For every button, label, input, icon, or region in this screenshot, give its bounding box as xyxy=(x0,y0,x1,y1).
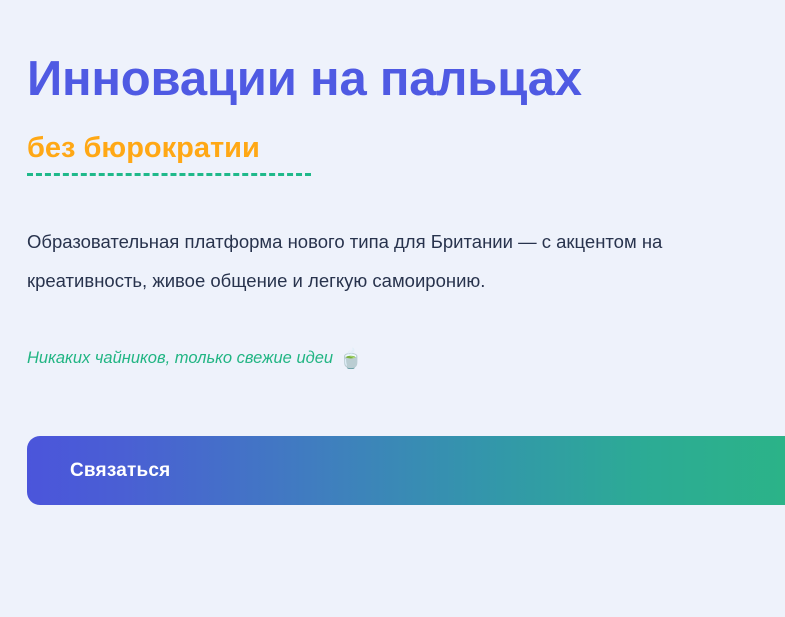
hero-section: Инновации на пальцах без бюрократии Обра… xyxy=(0,0,785,617)
page-title: Инновации на пальцах xyxy=(27,53,582,106)
teacup-without-handle-icon: 🍵 xyxy=(339,349,363,370)
tagline-text: Никаких чайников, только свежие идеи xyxy=(27,349,333,367)
contact-button[interactable]: Связаться xyxy=(27,436,785,505)
subtitle-group: без бюрократии xyxy=(27,132,311,165)
page-subtitle: без бюрократии xyxy=(27,132,311,165)
tagline: Никаких чайников, только свежие идеи🍵 xyxy=(27,348,363,373)
dashed-underline-divider xyxy=(27,173,311,176)
lead-paragraph: Образовательная платформа нового типа дл… xyxy=(27,222,695,300)
